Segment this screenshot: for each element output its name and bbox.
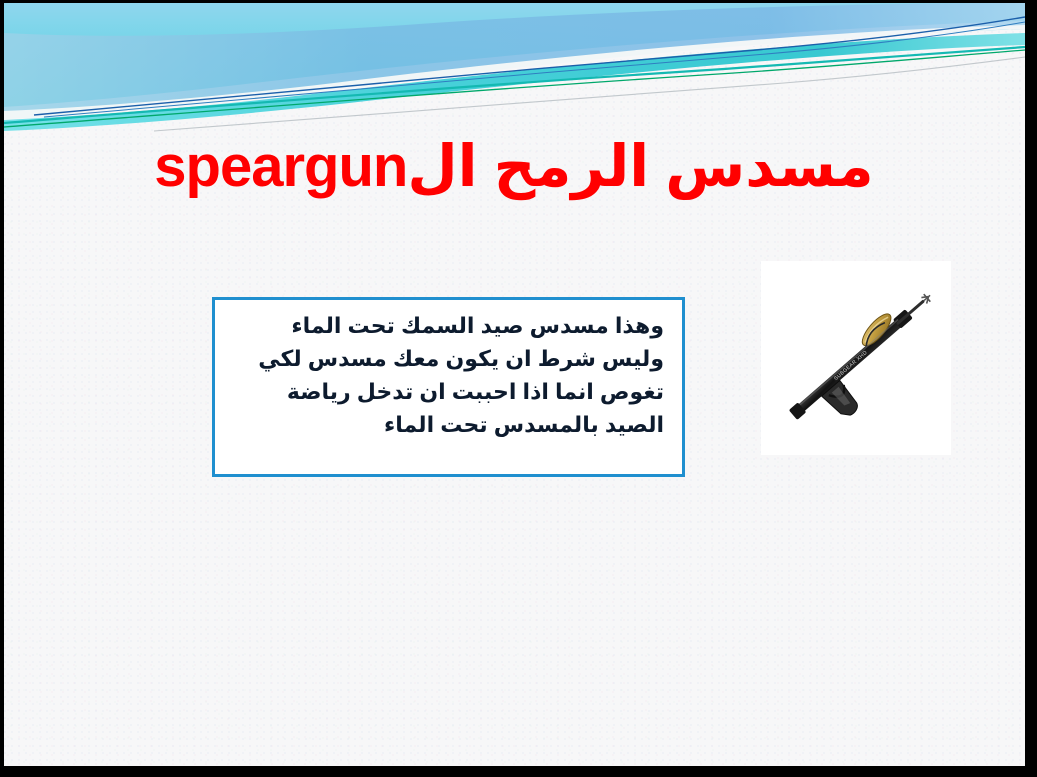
body-textbox: وهذا مسدس صيد السمك تحت الماء وليس شرط ا…	[212, 297, 685, 477]
title-arabic: مسدس الرمح ال	[407, 134, 873, 199]
body-text: وهذا مسدس صيد السمك تحت الماء وليس شرط ا…	[215, 300, 682, 441]
speargun-illustration: SUBGEAR XHD	[761, 261, 951, 455]
slide-frame: مسدس الرمح الspeargun وهذا مسدس صيد السم…	[0, 0, 1037, 777]
swoosh-svg	[4, 3, 1025, 133]
body-line: الصيد بالمسدس تحت الماء	[227, 408, 664, 441]
speargun-photo: SUBGEAR XHD	[761, 261, 951, 455]
body-line: تغوص انما اذا احببت ان تدخل رياضة	[227, 375, 664, 408]
flow-theme-swoosh	[4, 3, 1025, 133]
page-title: مسدس الرمح الspeargun	[64, 135, 964, 199]
slide-canvas: مسدس الرمح الspeargun وهذا مسدس صيد السم…	[4, 3, 1025, 766]
body-line: وليس شرط ان يكون معك مسدس لكي	[227, 342, 664, 375]
body-line: وهذا مسدس صيد السمك تحت الماء	[227, 309, 664, 342]
title-latin: speargun	[154, 134, 407, 199]
